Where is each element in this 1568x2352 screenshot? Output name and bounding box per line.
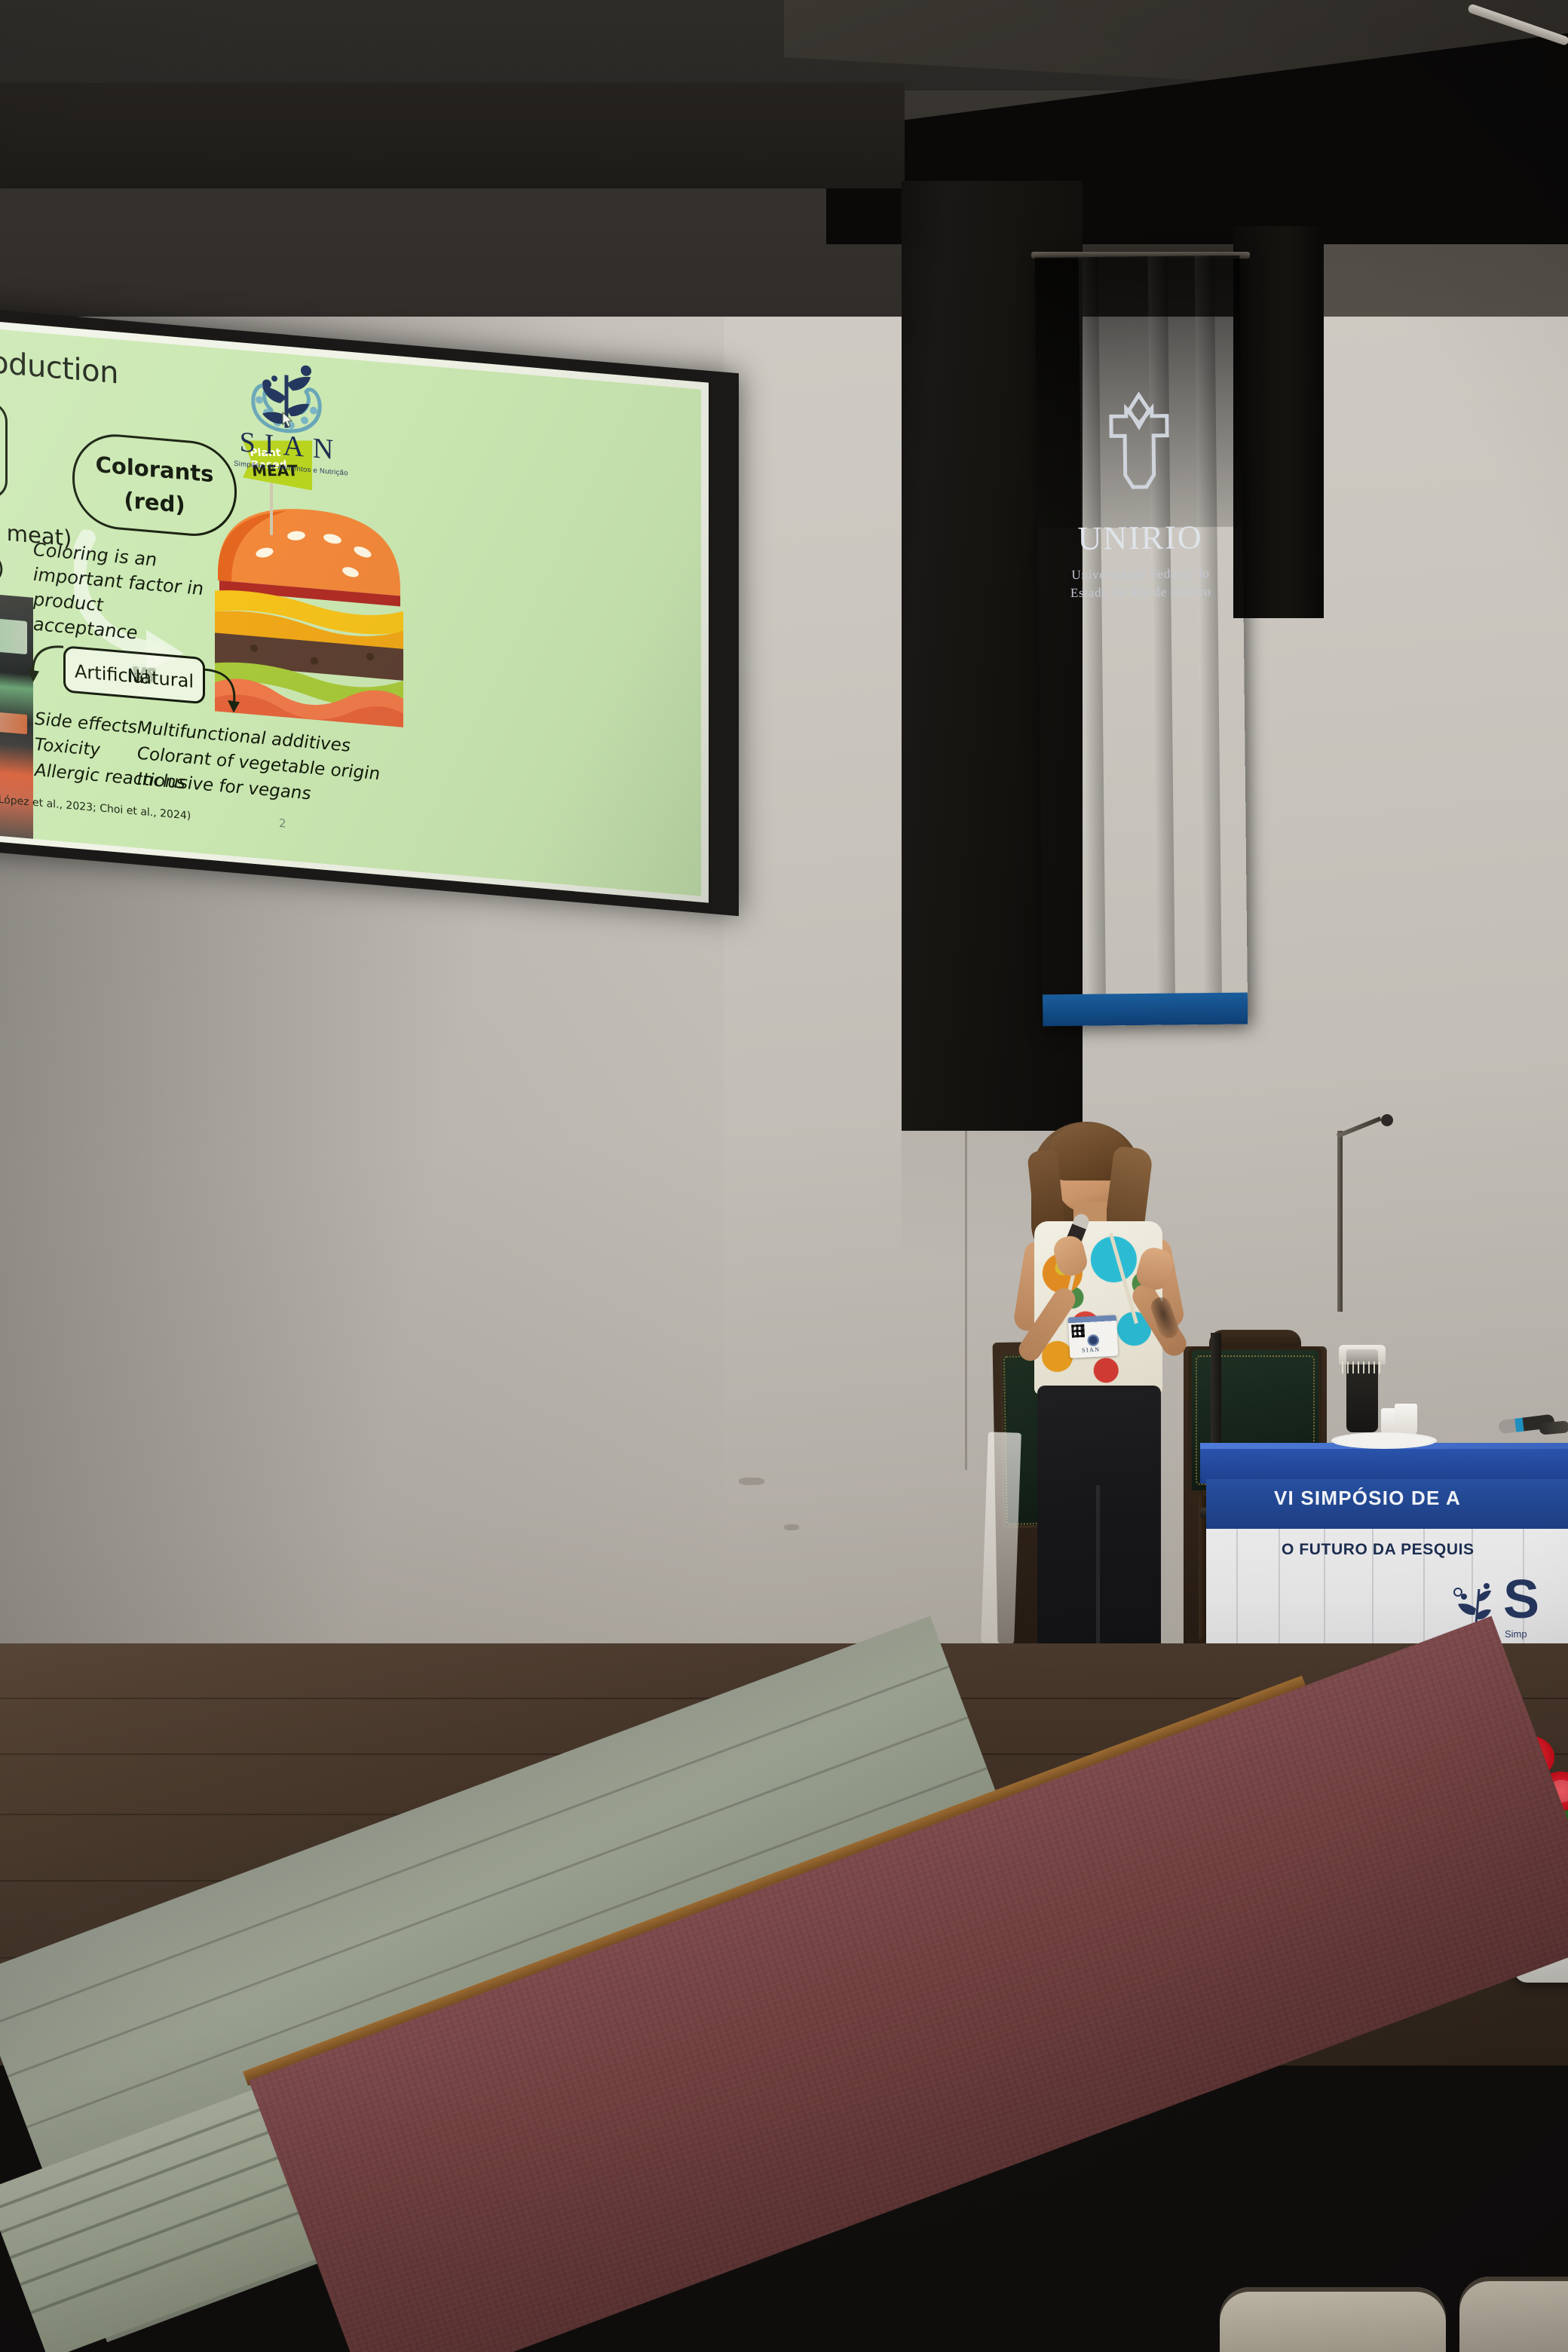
colorants-label-line2: (red) [75,482,234,522]
slide-page-number: 2 [279,816,286,831]
sian-logo-letter: S [1503,1573,1539,1627]
conference-badge: SIAN [1068,1315,1119,1358]
symposium-title: VI SIMPÓSIO DE A [1274,1487,1568,1510]
presentation-slide: ntroduction based meat) 38%) Colorants (… [0,327,701,896]
speaker-presenter: SIAN [994,1108,1205,1719]
mouse-cursor-icon [282,412,292,427]
microphone-stand-pole [1337,1131,1343,1312]
table-microphone-secondary [1539,1420,1568,1435]
microphone-stand-head-icon [1381,1114,1393,1126]
audience-seat [1220,2287,1446,2352]
slide-text-percent: 38%) [0,551,5,581]
coloring-note: Coloring is an important factor in produ… [33,537,207,652]
serving-tray [1331,1432,1437,1449]
head-table-top [1200,1444,1568,1484]
badge-logo-icon [1087,1334,1100,1347]
sian-logo-subtitle: Simp [1505,1628,1527,1640]
audience-seat [1459,2277,1568,2352]
colorants-label-line1: Colorants [75,449,234,488]
arrow-left-down-icon [24,639,69,690]
arrow-right-down-icon [201,666,246,717]
projection-screen: ntroduction based meat) 38%) Colorants (… [0,320,709,902]
pitcher-lace-fringe [1342,1361,1383,1374]
natural-benefits-list: Multifunctional additives Colorant of ve… [137,715,380,813]
symposium-subtitle: O FUTURO DA PESQUIS [1282,1541,1568,1559]
curtain-header-band [0,83,905,188]
qr-code-icon [1071,1325,1085,1338]
paper-cup [1395,1404,1417,1435]
label-natural: Natural [127,665,194,692]
unirio-banner: UNIRIO Universidade Federal do Estado do… [1035,256,1248,1027]
wall-scuff [739,1478,764,1485]
slide-title: ntroduction [0,341,118,390]
wall-scuff [784,1524,799,1530]
badge-label: SIAN [1082,1346,1101,1354]
vertical-curtain-secondary [1233,226,1324,618]
unirio-subtitle-line1: Universidade Federal do [1038,566,1243,583]
presentation-scene: ntroduction based meat) 38%) Colorants (… [0,0,1568,2352]
colorants-box: Colorants (red) [72,430,237,540]
unirio-acronym: UNIRIO [1037,518,1243,559]
banner-footer-band [1043,993,1248,1027]
trouser-seam [1096,1485,1100,1643]
unirio-crest-icon [1098,390,1182,511]
slide-box-topleft [0,395,8,500]
unirio-subtitle-line2: Estado do Rio de Janeiro [1038,584,1243,602]
